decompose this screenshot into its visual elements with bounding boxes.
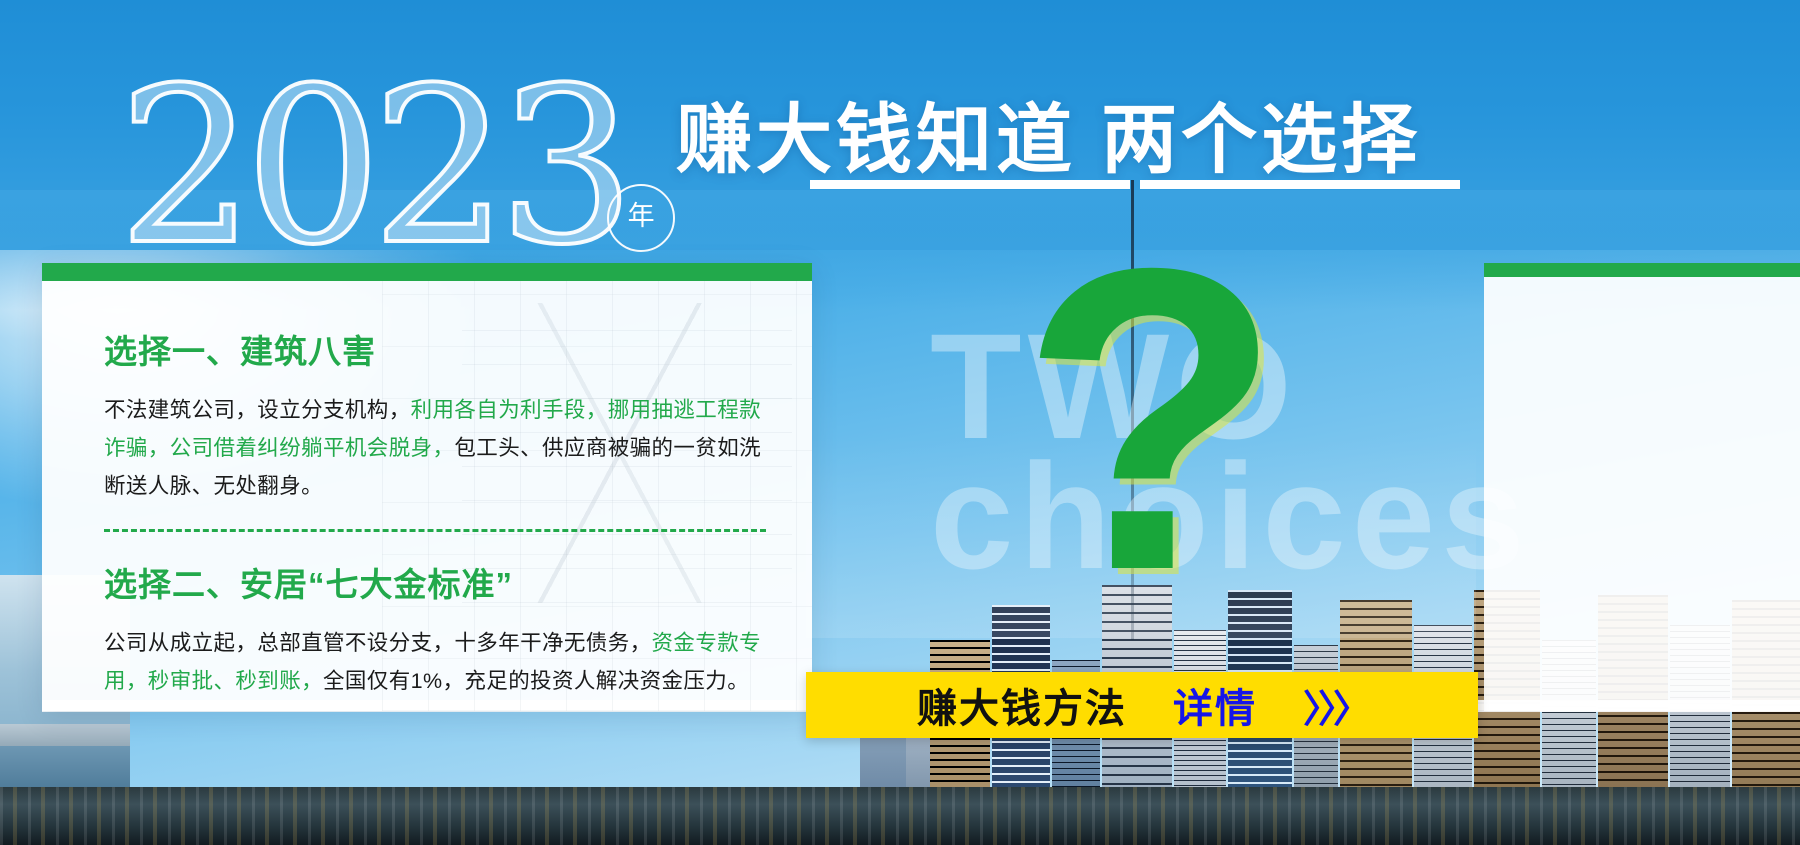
section-2-title: 选择二、安居“七大金标准” [104, 558, 766, 606]
section-divider [104, 529, 766, 532]
section-2-body-part-3: 全国仅有1%，充足的投资人解决资金压力。 [323, 669, 749, 693]
cta-details-link[interactable]: 详情 [1173, 676, 1257, 734]
right-white-base [1484, 277, 1800, 711]
chevron-right-icon: 〉〉〉 [1303, 678, 1367, 733]
banner-root: 2023 年 赚大钱知道 两个选择 TWO choices ? 选择一、建筑八害… [0, 0, 1800, 845]
cta-main-label: 赚大钱方法 [917, 676, 1127, 734]
card-top-green-bar [42, 263, 812, 281]
section-1-body: 不法建筑公司，设立分支机构，利用各自为利手段，挪用抽逃工程款诈骗，公司借着纠纷躺… [104, 391, 766, 505]
page-title: 赚大钱知道 两个选择 [676, 78, 1421, 188]
section-1-body-part-1: 不法建筑公司，设立分支机构， [104, 398, 411, 422]
right-green-edge [1484, 263, 1800, 277]
ground-water-strip [0, 787, 1800, 845]
photo-panel [806, 188, 1476, 638]
section-2-body-part-1: 公司从成立起，总部直管不设分支，十多年干净无债务， [104, 631, 652, 655]
content-card: 选择一、建筑八害 不法建筑公司，设立分支机构，利用各自为利手段，挪用抽逃工程款诈… [42, 263, 812, 711]
section-1-title: 选择一、建筑八害 [104, 325, 766, 373]
section-2-body: 公司从成立起，总部直管不设分支，十多年干净无债务，资金专款专用，秒审批、秒到账，… [104, 624, 766, 700]
cta-banner[interactable]: 赚大钱方法 详情 〉〉〉 [806, 672, 1478, 738]
